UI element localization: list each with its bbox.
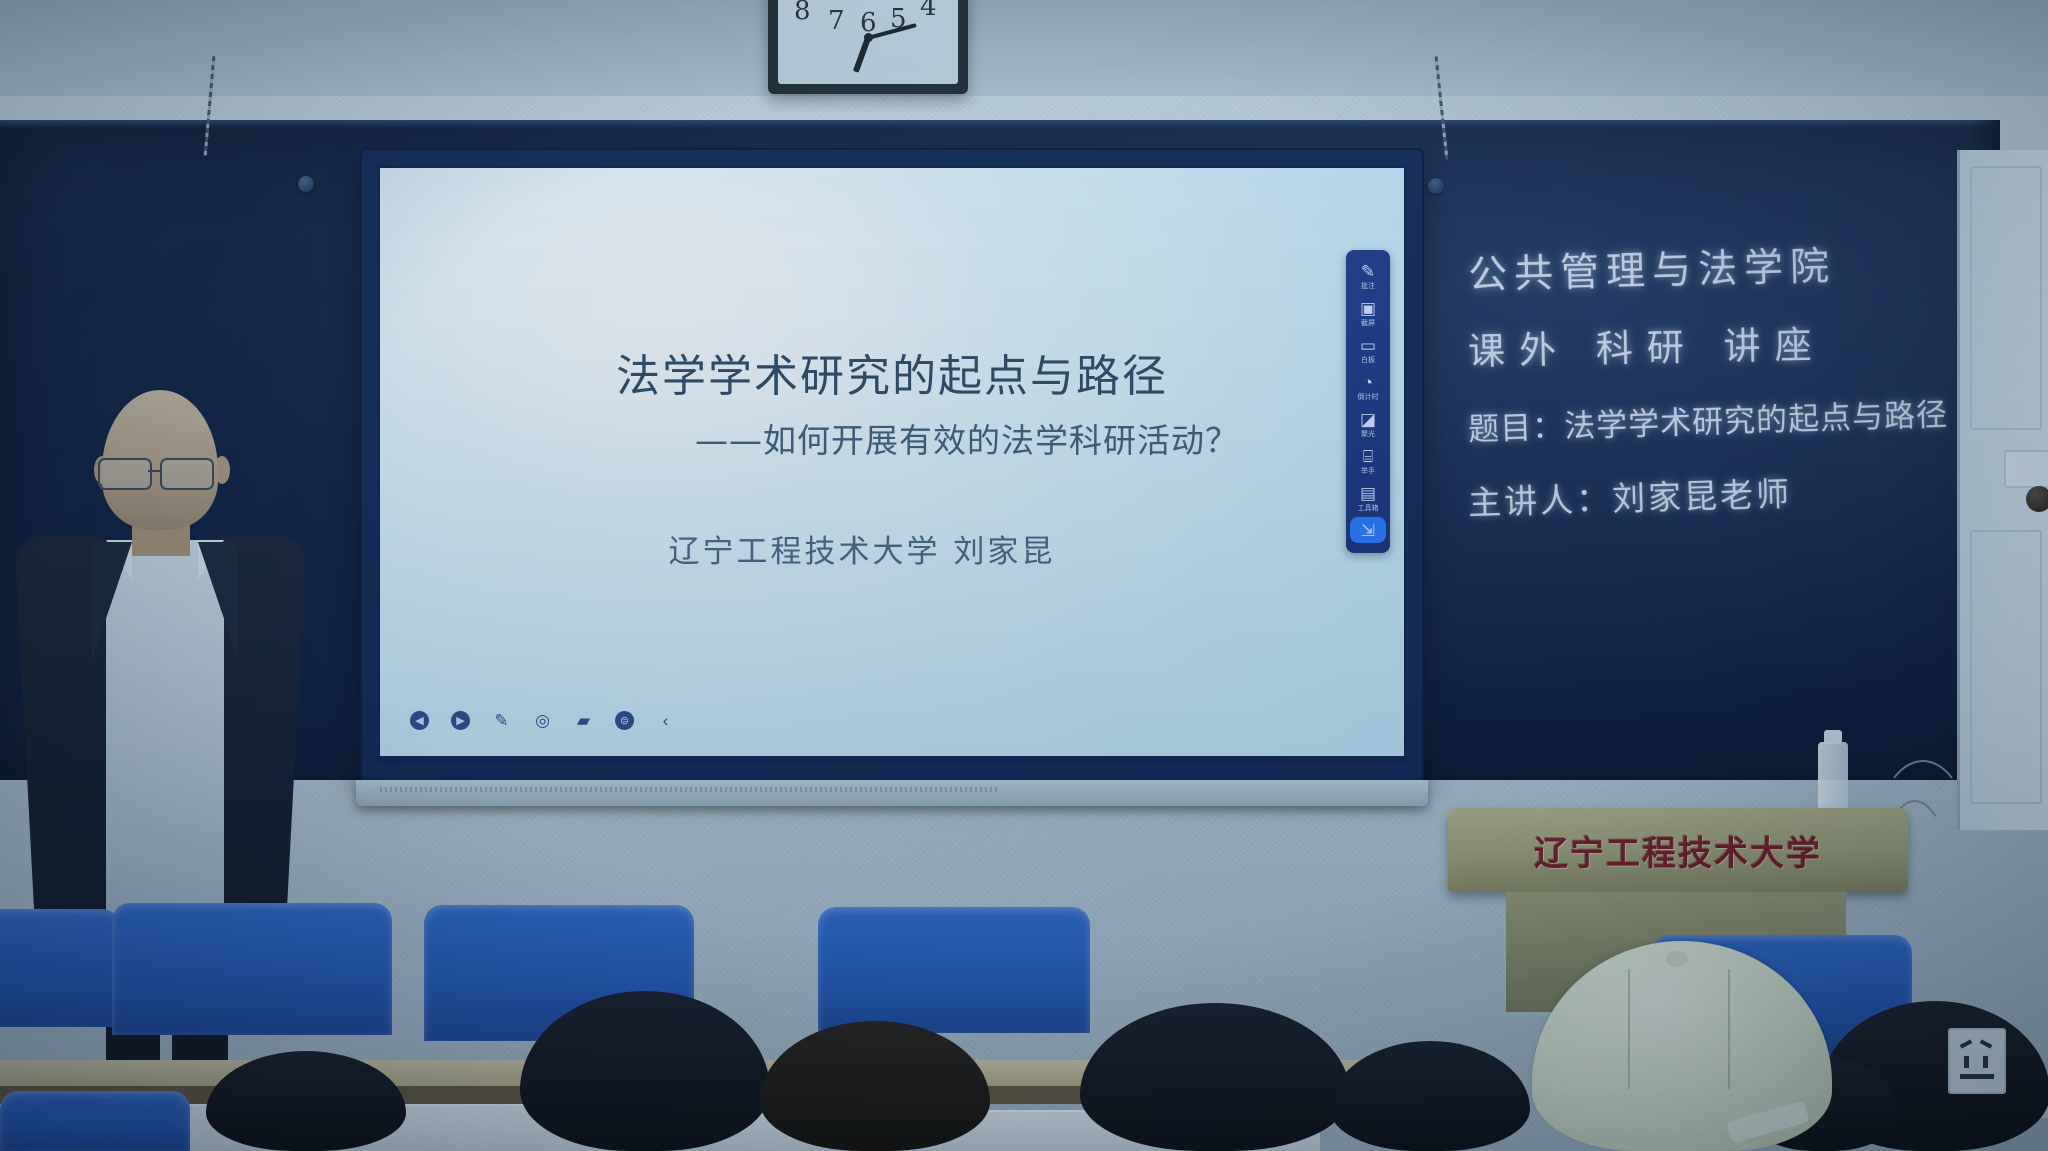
wall-cabinet[interactable]: [1957, 150, 2048, 830]
slide-subtitle: ——如何开展有效的法学科研活动？: [380, 414, 1404, 462]
water-bottle: [1818, 742, 1848, 814]
wall-power-outlet[interactable]: [1948, 1028, 2006, 1094]
cabinet-latch[interactable]: [2004, 450, 2048, 488]
lecture-hall-scene: 9 8 7 6 5 4 3 公共管理与法学院 课外 科研 讲座 题目：法学学术研…: [0, 0, 2048, 1151]
wall-upper-band: [0, 0, 2048, 96]
rail-item-toolbox[interactable]: ▤ 工具箱: [1346, 480, 1390, 517]
pen-icon: ✎: [1361, 263, 1375, 280]
mount-knob-left: [298, 176, 314, 192]
back-button[interactable]: ◀: [410, 711, 429, 730]
slide-presenter: 辽宁工程技术大学 刘家昆: [380, 526, 1404, 571]
rail-item-more[interactable]: ⇲: [1350, 517, 1386, 543]
clock-center-pin: [864, 33, 873, 42]
eraser-button[interactable]: ▰: [574, 711, 593, 730]
rail-label-timer: 倒计时: [1358, 393, 1379, 402]
raise-hand-icon: ⌸: [1363, 448, 1373, 465]
rail-label-whiteboard: 白板: [1361, 356, 1375, 365]
eyeglasses: [94, 458, 222, 488]
lens-left: [98, 458, 152, 490]
lectern-front-board: 辽宁工程技术大学: [1448, 808, 1908, 892]
chalk-line-topic: 题目：法学学术研究的起点与路径: [1467, 388, 1988, 449]
back-icon: ◀: [415, 714, 423, 727]
cabinet-panel-lower: [1970, 530, 2042, 804]
clock-number-7: 7: [828, 6, 845, 36]
outlet-slot-5: [1960, 1074, 1994, 1079]
rail-item-spotlight[interactable]: ◪ 聚光: [1346, 406, 1390, 443]
cap-top-button: [1666, 951, 1688, 967]
rail-label-annotate: 批注: [1361, 282, 1375, 291]
pen-icon: ✎: [494, 711, 508, 731]
rail-label-screenshot: 截屏: [1361, 319, 1375, 328]
glasses-bridge: [148, 470, 162, 472]
lapel-right: [198, 542, 238, 660]
blackboard-handwriting: 公共管理与法学院 课外 科研 讲座 题目：法学学术研究的起点与路径 主讲人：刘家…: [1468, 238, 1988, 517]
rail-label-toolbox: 工具箱: [1358, 504, 1379, 513]
chair-1: [0, 909, 120, 1027]
interactive-smart-board[interactable]: 法学学术研究的起点与路径 ——如何开展有效的法学科研活动？ 辽宁工程技术大学 刘…: [360, 148, 1424, 782]
chair-2: [112, 903, 392, 1035]
rail-item-screenshot[interactable]: ▣ 截屏: [1346, 295, 1390, 332]
more-icon: ⇲: [1361, 522, 1375, 539]
collapse-icon: ‹: [663, 711, 669, 731]
wall-clock: 9 8 7 6 5 4 3: [768, 0, 968, 94]
rail-item-whiteboard[interactable]: ▭ 白板: [1346, 332, 1390, 369]
whiteboard-icon: ▭: [1360, 337, 1376, 354]
mount-knob-right: [1428, 178, 1444, 194]
lens-right: [160, 458, 214, 490]
outlet-slot-1: [1960, 1039, 1972, 1048]
screenshot-icon: ▣: [1360, 300, 1376, 317]
tray-speaker-vents: [380, 787, 1000, 792]
spotlight-icon: ◪: [1360, 411, 1376, 428]
toolbox-icon: ▤: [1360, 485, 1376, 502]
timer-icon: ◔: [1363, 374, 1373, 391]
clock-hour-hand: [853, 37, 871, 73]
cap-seam-left: [1628, 969, 1630, 1089]
clock-number-8: 8: [794, 0, 811, 26]
outlet-slot-3: [1964, 1056, 1969, 1068]
cap-seam-right: [1728, 969, 1730, 1089]
rail-item-timer[interactable]: ◔ 倒计时: [1346, 369, 1390, 406]
clock-number-4: 4: [920, 0, 937, 22]
play-button[interactable]: ▶: [451, 711, 470, 730]
rail-item-raise-hand[interactable]: ⌸ 举手: [1346, 443, 1390, 480]
chalk-line-event-type: 课外 科研 讲座: [1468, 311, 1989, 375]
cabinet-panel-upper: [1970, 166, 2042, 430]
chalk-line-department: 公共管理与法学院: [1467, 232, 1988, 301]
outlet-slot-4: [1983, 1056, 1988, 1068]
smart-board-tray: [356, 780, 1428, 806]
chalk-line-speaker: 主讲人：刘家昆老师: [1467, 462, 1988, 525]
projected-slide[interactable]: 法学学术研究的起点与路径 ——如何开展有效的法学科研活动？ 辽宁工程技术大学 刘…: [380, 168, 1404, 756]
eraser-icon: ▰: [577, 711, 590, 731]
clock-face: 9 8 7 6 5 4 3: [778, 0, 958, 84]
lapel-left: [92, 542, 132, 660]
focus-button[interactable]: ◎: [533, 711, 552, 730]
rail-item-annotate[interactable]: ✎ 批注: [1346, 258, 1390, 295]
more-button[interactable]: ⊜: [615, 711, 634, 730]
play-icon: ▶: [456, 714, 464, 727]
chair-6: [0, 1091, 190, 1151]
outlet-slot-2: [1980, 1039, 1992, 1048]
cabinet-knob[interactable]: [2026, 486, 2048, 512]
rail-label-spotlight: 聚光: [1361, 430, 1375, 439]
more-icon: ⊜: [620, 714, 629, 727]
board-tool-rail[interactable]: ✎ 批注 ▣ 截屏 ▭ 白板 ◔ 倒计时 ◪ 聚光: [1346, 250, 1390, 553]
slide-title: 法学学术研究的起点与路径: [380, 340, 1404, 404]
university-nameplate: 辽宁工程技术大学: [1448, 826, 1908, 875]
rail-label-raise-hand: 举手: [1361, 467, 1375, 476]
pen-button[interactable]: ✎: [492, 711, 511, 730]
collapse-button[interactable]: ‹: [656, 711, 675, 730]
blackboard-top-edge: [0, 120, 2000, 128]
chair-4: [818, 907, 1090, 1033]
focus-icon: ◎: [535, 711, 550, 731]
slide-bottom-toolbar[interactable]: ◀ ▶ ✎ ◎ ▰ ⊜ ‹: [410, 711, 675, 730]
